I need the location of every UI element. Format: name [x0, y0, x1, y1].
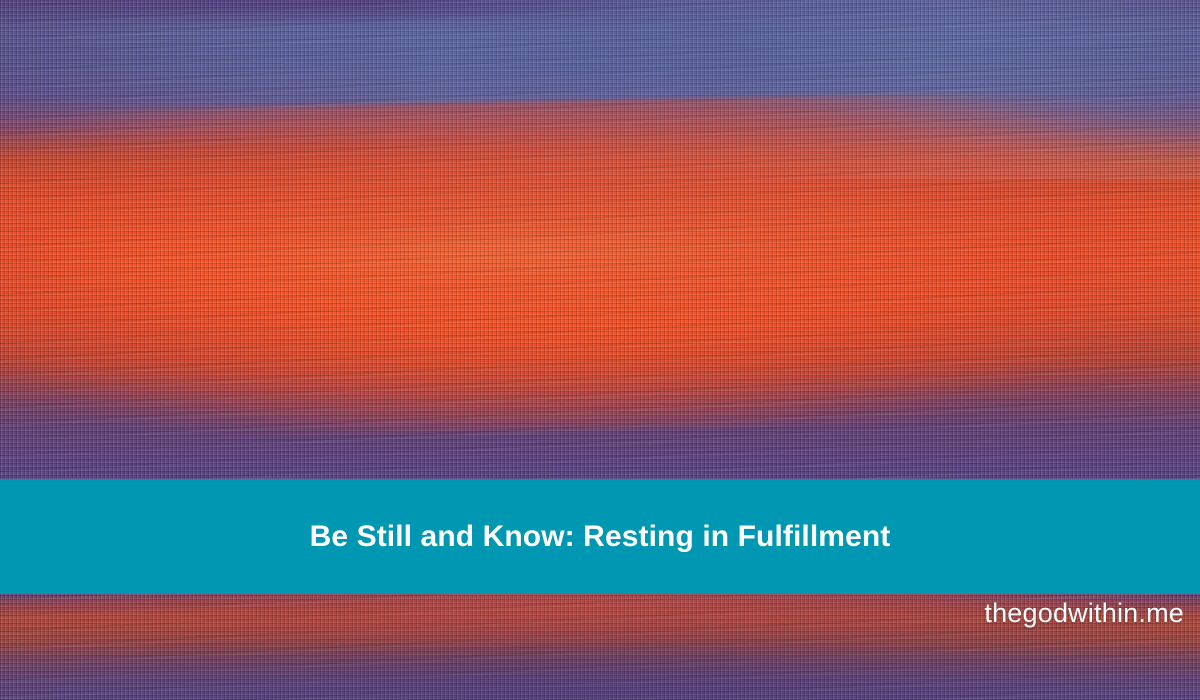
site-watermark: thegodwithin.me	[984, 598, 1184, 629]
page-title: Be Still and Know: Resting in Fulfillmen…	[310, 522, 891, 552]
orange-brushstroke-highlight	[47, 177, 1082, 322]
title-banner: Be Still and Know: Resting in Fulfillmen…	[0, 479, 1200, 594]
abstract-painting-background	[0, 0, 1200, 700]
featured-image-card: Be Still and Know: Resting in Fulfillmen…	[0, 0, 1200, 700]
